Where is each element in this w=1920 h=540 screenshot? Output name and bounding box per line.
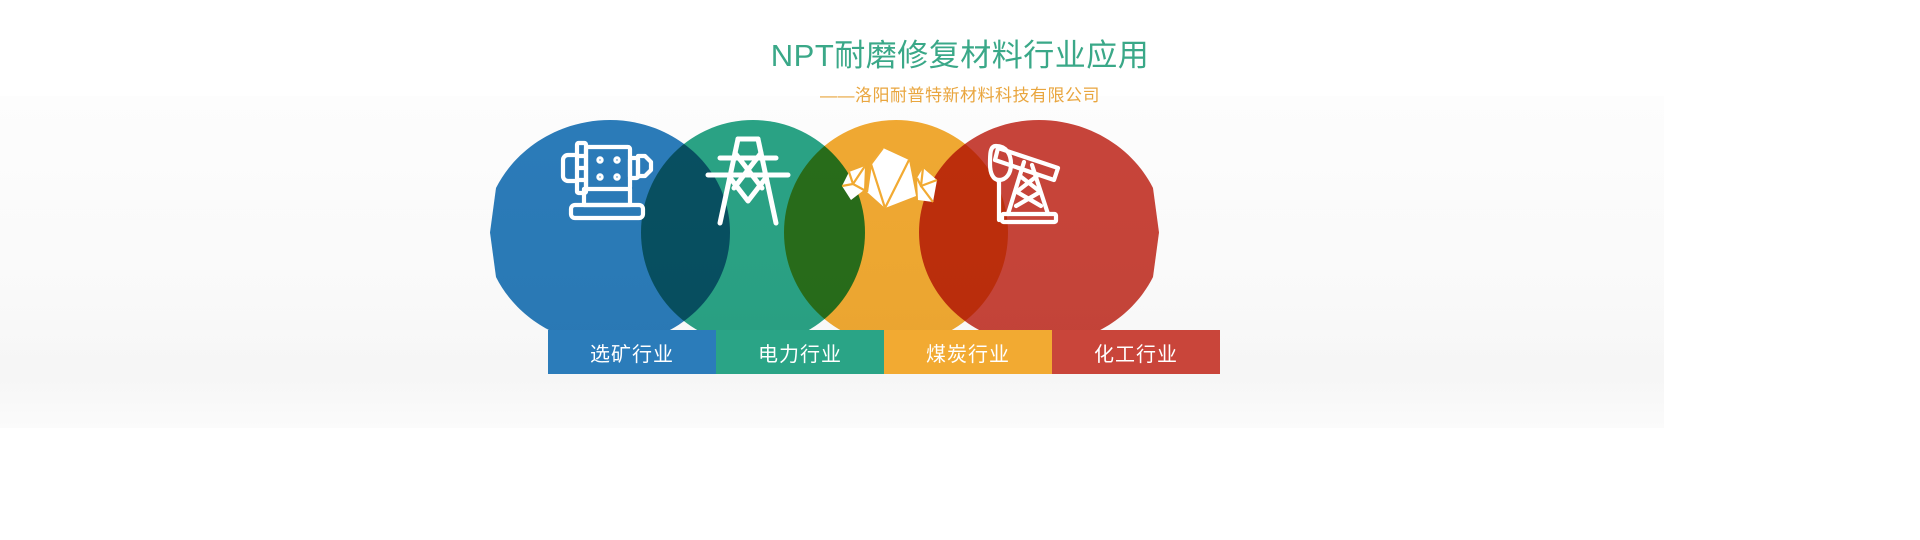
- segment-label-power[interactable]: 电力行业: [716, 330, 884, 374]
- heading-block: NPT耐磨修复材料行业应用 ——洛阳耐普特新材料科技有限公司: [0, 36, 1920, 108]
- segment-label-mineral-processing[interactable]: 选矿行业: [548, 330, 716, 374]
- segment-shape-chemical[interactable]: [919, 120, 1159, 345]
- slide-canvas: NPT耐磨修复材料行业应用 ——洛阳耐普特新材料科技有限公司: [0, 0, 1920, 540]
- segment-label-bar: 选矿行业 电力行业 煤炭行业 化工行业: [548, 330, 1220, 374]
- page-title: NPT耐磨修复材料行业应用: [0, 36, 1920, 76]
- segment-label-chemical[interactable]: 化工行业: [1052, 330, 1220, 374]
- segment-label-coal[interactable]: 煤炭行业: [884, 330, 1052, 374]
- segment-diagram: [490, 120, 1160, 345]
- page-subtitle: ——洛阳耐普特新材料科技有限公司: [0, 84, 1920, 108]
